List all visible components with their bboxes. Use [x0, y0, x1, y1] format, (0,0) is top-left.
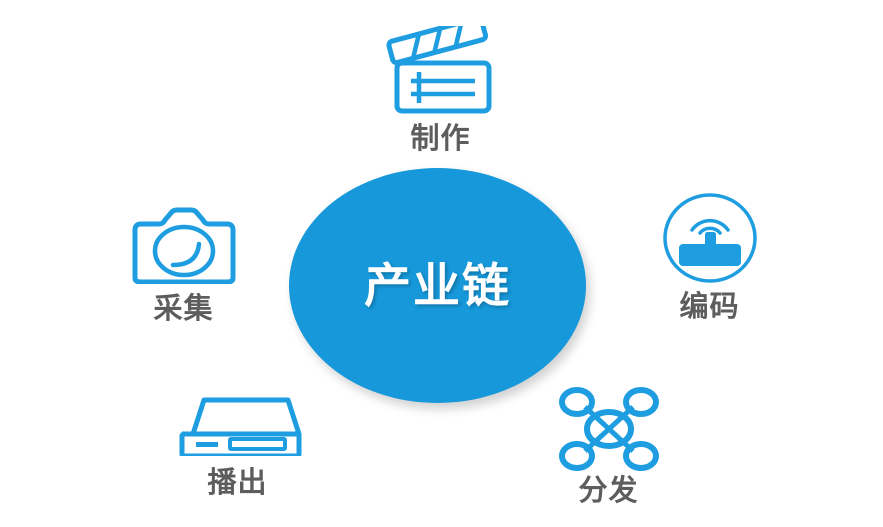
network-nodes-icon [555, 386, 663, 472]
node-encode-label: 编码 [679, 292, 739, 324]
node-distribute[interactable]: 分发 [531, 386, 686, 508]
set-top-box-icon [168, 390, 308, 456]
center-hub: 产业链 [289, 168, 586, 403]
center-hub-label: 产业链 [364, 262, 511, 309]
node-capture[interactable]: 采集 [106, 206, 261, 326]
node-broadcast-label: 播出 [207, 468, 267, 500]
diagram-canvas: 产业链 制作 [0, 0, 883, 527]
node-distribute-label: 分发 [578, 476, 638, 508]
node-produce[interactable]: 制作 [363, 26, 518, 156]
node-encode[interactable]: 编码 [632, 192, 787, 324]
node-broadcast[interactable]: 播出 [160, 390, 315, 500]
encoder-antenna-icon [662, 192, 758, 284]
clapperboard-icon [377, 26, 505, 118]
node-capture-label: 采集 [153, 294, 213, 326]
node-produce-label: 制作 [410, 124, 470, 156]
camera-icon [129, 206, 239, 284]
